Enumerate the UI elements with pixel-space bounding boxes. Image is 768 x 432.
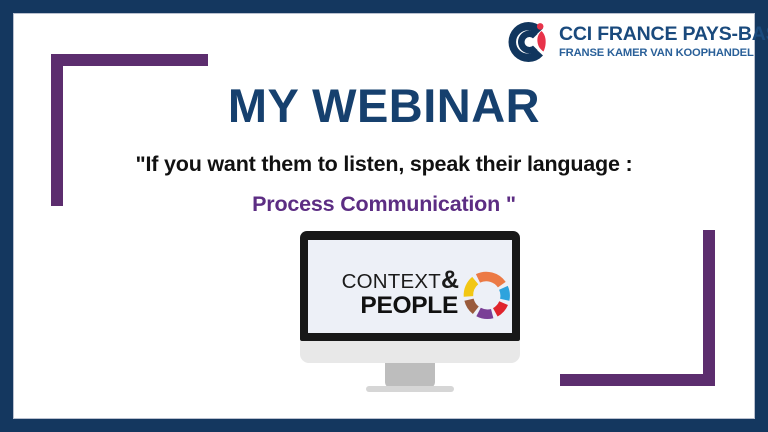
- corner-bracket-top-left-horizontal: [51, 54, 208, 66]
- context-and-people-wordmark: CONTEXT& PEOPLE: [318, 268, 458, 319]
- corner-bracket-bottom-right-vertical: [703, 230, 715, 386]
- monitor-stand-base: [366, 386, 454, 392]
- context-and-people-logo: CONTEXT& PEOPLE: [316, 268, 512, 324]
- desktop-monitor-illustration: CONTEXT& PEOPLE: [300, 231, 520, 391]
- page-title: MY WEBINAR: [0, 78, 768, 133]
- cci-circle-icon: [505, 20, 551, 64]
- logo-primary-text: CCI FRANCE PAYS-BAS: [559, 25, 768, 45]
- quote-line-one: "If you want them to listen, speak their…: [0, 152, 768, 177]
- segmented-ring-icon: [462, 270, 512, 320]
- monitor-chin: [300, 341, 520, 363]
- cci-france-pays-bas-logo: CCI FRANCE PAYS-BAS FRANSE KAMER VAN KOO…: [505, 18, 750, 66]
- monitor-screen: CONTEXT& PEOPLE: [308, 240, 512, 333]
- logo-secondary-text: FRANSE KAMER VAN KOOPHANDEL: [559, 48, 768, 59]
- webinar-announcement-slide: CCI FRANCE PAYS-BAS FRANSE KAMER VAN KOO…: [0, 0, 768, 432]
- ampersand-glyph: &: [441, 266, 458, 294]
- corner-bracket-bottom-right-horizontal: [560, 374, 715, 386]
- monitor-stand-neck: [385, 363, 435, 388]
- word-context: CONTEXT: [342, 270, 441, 293]
- context-and-people-line-one: CONTEXT&: [318, 268, 458, 293]
- word-people: PEOPLE: [318, 294, 458, 319]
- logo-text-block: CCI FRANCE PAYS-BAS FRANSE KAMER VAN KOO…: [559, 25, 768, 59]
- quote-line-two: Process Communication ": [0, 192, 768, 217]
